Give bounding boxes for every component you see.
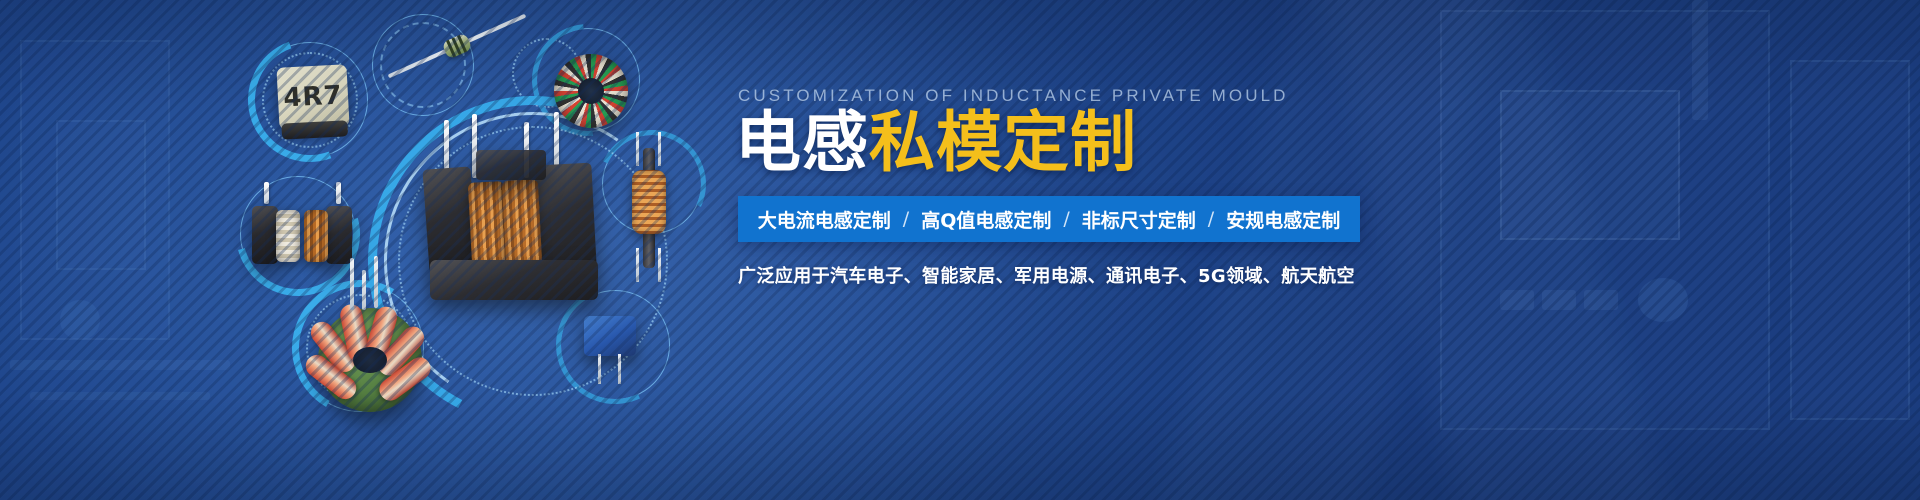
product-main-choke-assembly	[420, 120, 650, 310]
tagline-item-4[interactable]: 安规电感定制	[1226, 206, 1340, 233]
product-axial-inductor	[382, 44, 532, 48]
tagline-separator-2: /	[1063, 208, 1069, 230]
product-smd-inductor-4r7: 4R7	[278, 66, 348, 128]
english-subtitle: CUSTOMIZATION OF INDUCTANCE PRIVATE MOUL…	[738, 86, 1289, 106]
product-green-toroid-choke	[310, 300, 430, 420]
page-title: 电感私模定制	[735, 110, 1137, 176]
product-white-copper-choke	[252, 196, 352, 274]
banner-text-block: CUSTOMIZATION OF INDUCTANCE PRIVATE MOUL…	[735, 0, 1865, 500]
smd-chip-label: 4R7	[283, 80, 344, 113]
service-tagline-bar: 大电流电感定制 / 高Q值电感定制 / 非标尺寸定制 / 安规电感定制	[738, 196, 1360, 242]
tagline-item-2[interactable]: 高Q值电感定制	[921, 206, 1051, 233]
tagline-item-3[interactable]: 非标尺寸定制	[1082, 206, 1196, 233]
tagline-separator-1: /	[903, 208, 909, 230]
tagline-item-1[interactable]: 大电流电感定制	[758, 206, 891, 233]
product-hero-banner: 4R7	[0, 0, 1920, 500]
headline-white-part: 电感	[735, 104, 869, 181]
product-blue-radial-inductor	[584, 316, 636, 380]
application-description: 广泛应用于汽车电子、智能家居、军用电源、通讯电子、5G领域、航天航空	[738, 262, 1355, 288]
tagline-separator-3: /	[1208, 208, 1214, 230]
headline-gold-part: 私模定制	[869, 104, 1137, 181]
